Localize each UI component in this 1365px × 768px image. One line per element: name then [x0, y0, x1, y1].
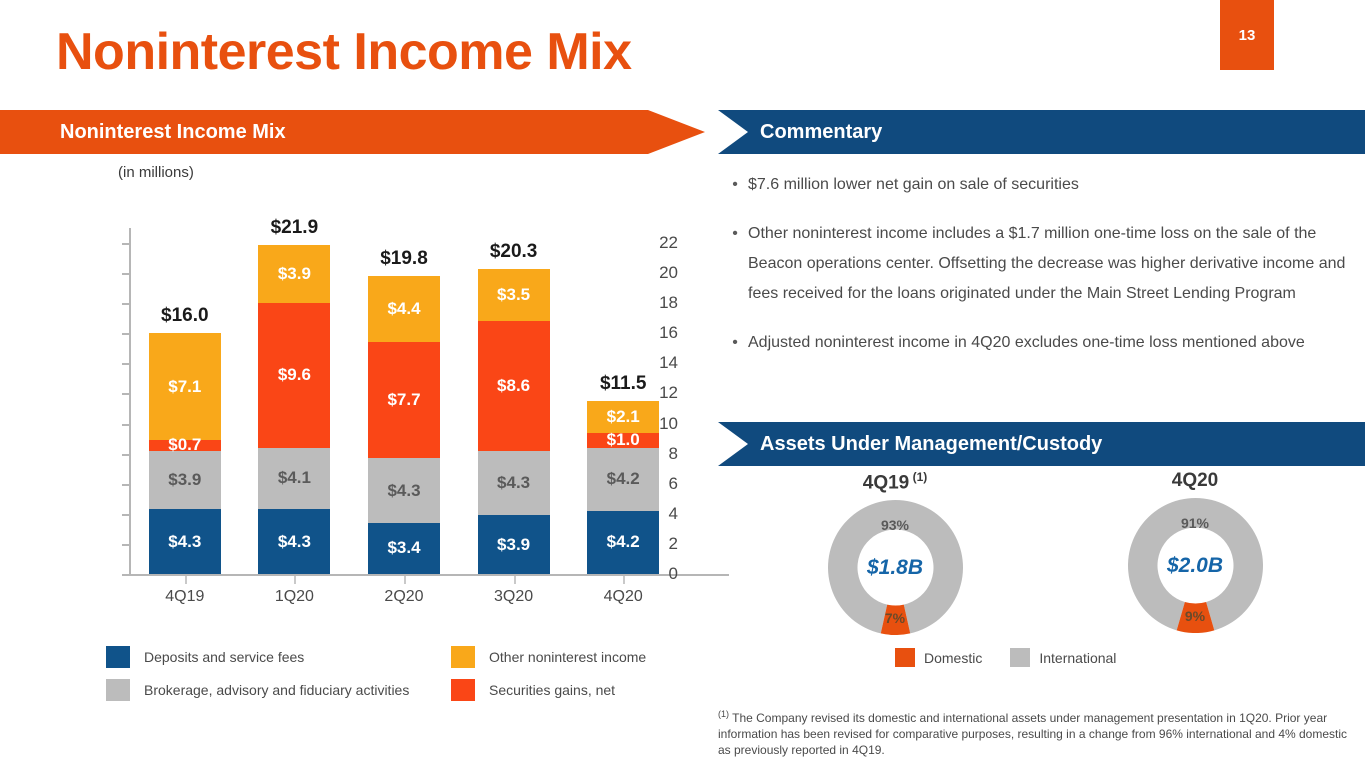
bar-segment: $4.4: [368, 276, 440, 342]
x-axis-tick-label: 3Q20: [459, 588, 569, 606]
chart-legend-item: Other noninterest income: [451, 646, 646, 668]
x-axis-tick-mark: [623, 576, 625, 584]
bar-total-label: $21.9: [239, 217, 349, 239]
aum-legend-label: Domestic: [924, 650, 982, 666]
bar-segment: $4.3: [478, 451, 550, 516]
bar-segment: $4.2: [587, 448, 659, 511]
aum-donut-section: 4Q19 (1)93%7%$1.8B4Q2091%9%$2.0B Domesti…: [715, 470, 1365, 680]
page-number-label: 13: [1239, 27, 1256, 44]
x-axis-tick-label: 4Q19: [130, 588, 240, 606]
bar-segment: $2.1: [587, 401, 659, 433]
aum-banner-label: Assets Under Management/Custody: [760, 422, 1102, 466]
footnote-marker: (1): [718, 709, 729, 719]
donut-title: 4Q19 (1): [745, 470, 1045, 494]
legend-swatch-icon: [451, 679, 475, 701]
donut-international-pct: 93%: [828, 517, 963, 533]
donut-chart: 91%9%$2.0B: [1128, 498, 1263, 633]
legend-swatch-icon: [106, 646, 130, 668]
chart-legend-row: Deposits and service feesOther nonintere…: [106, 646, 686, 668]
bar-segment: $4.3: [368, 458, 440, 523]
bar-segment-label: $4.4: [387, 299, 420, 319]
bar-segment-label: $3.4: [387, 538, 420, 558]
bar-segment: $4.2: [587, 511, 659, 574]
bar-segment: $3.9: [149, 451, 221, 510]
donut-center-value: $1.8B: [867, 556, 923, 580]
bar-segment-label: $1.0: [607, 430, 640, 450]
x-axis-tick-mark: [404, 576, 406, 584]
bar-total-label: $16.0: [130, 305, 240, 327]
aum-legend-swatch-icon: [1010, 648, 1030, 667]
bar-segment-label: $2.1: [607, 407, 640, 427]
commentary-list: •$7.6 million lower net gain on sale of …: [722, 170, 1352, 377]
donut-domestic-pct: 9%: [1128, 608, 1263, 624]
chart-legend-item: Deposits and service fees: [106, 646, 451, 668]
commentary-bullet: •Other noninterest income includes a $1.…: [722, 219, 1352, 309]
donut-center-value: $2.0B: [1167, 554, 1223, 578]
bar-segment: $9.6: [258, 303, 330, 447]
commentary-bullet-text: Other noninterest income includes a $1.7…: [748, 219, 1352, 309]
bar-segment: $7.1: [149, 333, 221, 440]
bar-segment-label: $4.2: [607, 469, 640, 489]
bar-total-label: $11.5: [568, 373, 678, 395]
bar-segment: $1.0: [587, 433, 659, 448]
bar-segment: $8.6: [478, 321, 550, 450]
legend-swatch-icon: [106, 679, 130, 701]
donut-international-pct: 91%: [1128, 515, 1263, 531]
commentary-banner-label: Commentary: [760, 110, 882, 154]
chart-legend-row: Brokerage, advisory and fiduciary activi…: [106, 679, 686, 701]
bar-plot-area: $7.1$0.7$3.9$4.3$16.0$3.9$9.6$4.1$4.3$21…: [130, 228, 678, 576]
commentary-section-banner: Commentary: [0, 110, 1365, 154]
bar-segment-label: $8.6: [497, 376, 530, 396]
donut-title-superscript: (1): [909, 470, 927, 484]
chart-legend-item: Brokerage, advisory and fiduciary activi…: [106, 679, 451, 701]
bar-3Q20: $3.5$8.6$4.3$3.9: [478, 269, 550, 574]
chart-legend-label: Brokerage, advisory and fiduciary activi…: [144, 682, 409, 698]
footnote-text: The Company revised its domestic and int…: [718, 711, 1347, 757]
bar-segment: $3.5: [478, 269, 550, 322]
donut-domestic-pct: 7%: [828, 610, 963, 626]
bar-segment-label: $9.6: [278, 365, 311, 385]
aum-legend-swatch-icon: [895, 648, 915, 667]
donut-block-4Q20: 4Q2091%9%$2.0B: [1045, 470, 1345, 633]
bar-segment: $4.3: [149, 509, 221, 574]
aum-legend-label: International: [1039, 650, 1116, 666]
bullet-dot-icon: •: [722, 328, 748, 358]
donut-title: 4Q20: [1045, 470, 1345, 492]
bar-4Q19: $7.1$0.7$3.9$4.3: [149, 333, 221, 574]
chart-legend-label: Other noninterest income: [489, 649, 646, 665]
bar-1Q20: $3.9$9.6$4.1$4.3: [258, 245, 330, 574]
x-axis-tick-mark: [185, 576, 187, 584]
chart-legend: Deposits and service feesOther nonintere…: [106, 646, 686, 712]
commentary-bullet-text: $7.6 million lower net gain on sale of s…: [748, 170, 1352, 200]
legend-swatch-icon: [451, 646, 475, 668]
x-axis-tick-label: 1Q20: [239, 588, 349, 606]
bar-segment-label: $4.3: [278, 532, 311, 552]
bar-segment: $4.3: [258, 509, 330, 574]
page-number-badge: 13: [1220, 0, 1274, 70]
bar-segment-label: $0.7: [168, 435, 201, 455]
bar-segment: $4.1: [258, 448, 330, 510]
x-axis-tick-mark: [294, 576, 296, 584]
bar-segment-label: $4.3: [387, 481, 420, 501]
chart-legend-label: Deposits and service fees: [144, 649, 304, 665]
donut-block-4Q19: 4Q19 (1)93%7%$1.8B: [745, 470, 1045, 635]
bar-segment: $3.9: [258, 245, 330, 304]
bar-segment-label: $4.1: [278, 468, 311, 488]
bar-segment-label: $4.3: [497, 473, 530, 493]
page-title: Noninterest Income Mix: [56, 22, 632, 82]
donut-title-label: 4Q20: [1172, 470, 1218, 491]
bar-segment-label: $4.3: [168, 532, 201, 552]
bar-4Q20: $2.1$1.0$4.2$4.2: [587, 401, 659, 574]
bar-segment-label: $7.7: [387, 390, 420, 410]
donut-title-label: 4Q19: [863, 472, 909, 493]
aum-legend: DomesticInternational: [895, 648, 1144, 667]
footnote: (1) The Company revised its domestic and…: [718, 706, 1363, 758]
commentary-bullet-text: Adjusted noninterest income in 4Q20 excl…: [748, 328, 1352, 358]
bar-segment-label: $3.5: [497, 285, 530, 305]
bar-segment: $3.9: [478, 515, 550, 574]
bar-segment-label: $3.9: [278, 264, 311, 284]
x-axis-tick-mark: [514, 576, 516, 584]
bullet-dot-icon: •: [722, 219, 748, 309]
bar-segment: $0.7: [149, 440, 221, 451]
x-axis-tick-label: 4Q20: [568, 588, 678, 606]
bar-segment-label: $4.2: [607, 532, 640, 552]
bullet-dot-icon: •: [722, 170, 748, 200]
bar-segment: $7.7: [368, 342, 440, 458]
chart-legend-label: Securities gains, net: [489, 682, 615, 698]
commentary-bullet: •Adjusted noninterest income in 4Q20 exc…: [722, 328, 1352, 358]
bar-total-label: $19.8: [349, 248, 459, 270]
bar-segment-label: $3.9: [168, 470, 201, 490]
bar-total-label: $20.3: [459, 241, 569, 263]
bar-segment: $3.4: [368, 523, 440, 574]
bar-segment-label: $7.1: [168, 377, 201, 397]
bar-2Q20: $4.4$7.7$4.3$3.4: [368, 276, 440, 574]
x-axis-tick-label: 2Q20: [349, 588, 459, 606]
chart-legend-item: Securities gains, net: [451, 679, 615, 701]
noninterest-income-bar-chart: 0246810121416182022 $7.1$0.7$3.9$4.3$16.…: [78, 228, 678, 578]
bar-segment-label: $3.9: [497, 535, 530, 555]
commentary-bullet: •$7.6 million lower net gain on sale of …: [722, 170, 1352, 200]
chart-units-label: (in millions): [118, 164, 194, 181]
donut-chart: 93%7%$1.8B: [828, 500, 963, 635]
